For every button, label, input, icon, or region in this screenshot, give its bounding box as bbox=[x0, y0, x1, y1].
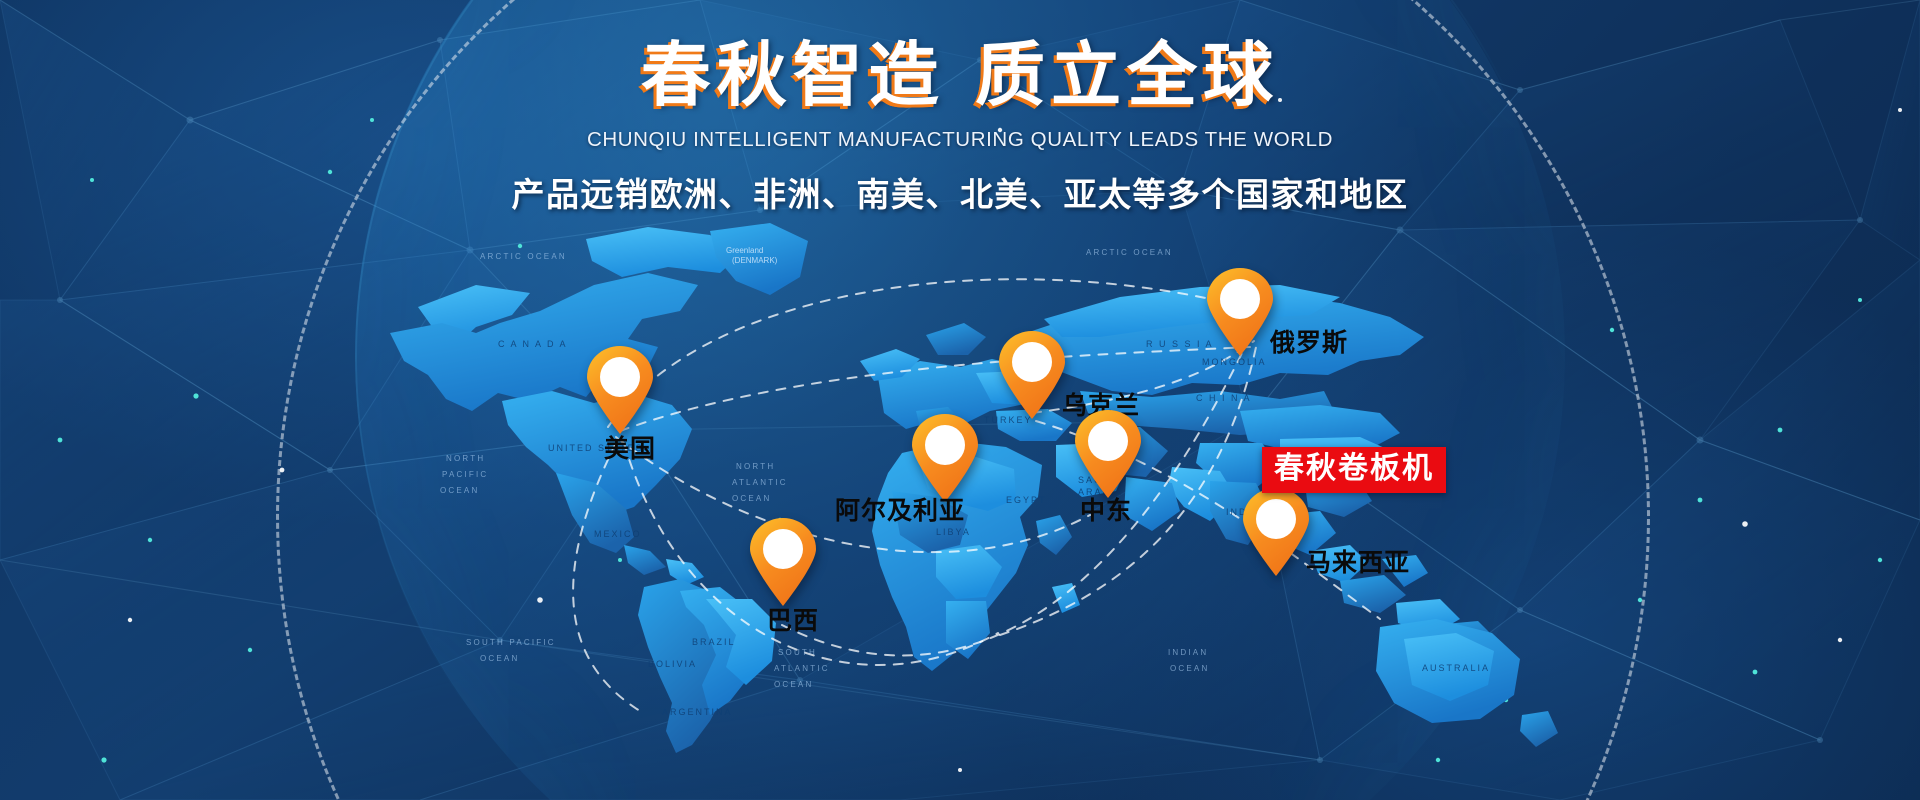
page-subtitle: 产品远销欧洲、非洲、南美、北美、亚太等多个国家和地区 bbox=[0, 168, 1920, 216]
svg-text:EGYPT: EGYPT bbox=[1006, 495, 1047, 505]
svg-text:PACIFIC: PACIFIC bbox=[442, 470, 488, 479]
svg-text:ARCTIC OCEAN: ARCTIC OCEAN bbox=[1086, 248, 1173, 257]
svg-text:OCEAN: OCEAN bbox=[1170, 664, 1209, 673]
page-title-english: CHUNQIU INTELLIGENT MANUFACTURING QUALIT… bbox=[0, 128, 1920, 152]
banner-stage: ARCTIC OCEAN ARCTIC OCEAN NORTH PACIFIC … bbox=[0, 0, 1920, 800]
svg-text:AUSTRALIA: AUSTRALIA bbox=[1422, 663, 1490, 673]
svg-text:OCEAN: OCEAN bbox=[480, 654, 519, 663]
svg-text:ARCTIC OCEAN: ARCTIC OCEAN bbox=[480, 252, 567, 261]
product-badge-label: 春秋卷板机 bbox=[1274, 453, 1434, 485]
svg-text:SOUTH PACIFIC: SOUTH PACIFIC bbox=[466, 638, 556, 647]
map-marker-label: 美国 bbox=[604, 436, 656, 461]
location-pin-icon bbox=[1207, 268, 1273, 356]
svg-text:R U S S I A: R U S S I A bbox=[1146, 339, 1214, 349]
svg-text:ATLANTIC: ATLANTIC bbox=[774, 664, 830, 673]
landmass-oceania bbox=[1376, 619, 1558, 747]
svg-text:LIBYA: LIBYA bbox=[936, 527, 971, 537]
location-pin-icon bbox=[750, 518, 816, 606]
location-pin-icon bbox=[587, 346, 653, 434]
svg-text:ATLANTIC: ATLANTIC bbox=[732, 478, 788, 487]
svg-text:C H I N A: C H I N A bbox=[1196, 393, 1252, 403]
map-marker-label: 巴西 bbox=[767, 608, 819, 633]
svg-text:NORTH: NORTH bbox=[446, 454, 485, 463]
svg-text:OCEAN: OCEAN bbox=[774, 680, 813, 689]
svg-text:MONGOLIA: MONGOLIA bbox=[1202, 357, 1267, 367]
svg-text:NORTH: NORTH bbox=[736, 462, 775, 471]
product-badge[interactable]: 春秋卷板机 bbox=[1262, 447, 1446, 493]
location-pin-icon bbox=[1075, 410, 1141, 498]
svg-text:ARGENTINA: ARGENTINA bbox=[662, 707, 733, 717]
svg-text:Greenland: Greenland bbox=[726, 246, 763, 255]
svg-text:OCEAN: OCEAN bbox=[440, 486, 479, 495]
svg-text:SOUTH: SOUTH bbox=[778, 648, 817, 657]
map-marker-label: 阿尔及利亚 bbox=[835, 498, 965, 523]
map-marker-label: 马来西亚 bbox=[1306, 550, 1410, 575]
svg-text:BOLIVIA: BOLIVIA bbox=[648, 659, 697, 669]
location-pin-icon bbox=[1243, 488, 1309, 576]
page-title: 春秋智造 质立全球 bbox=[641, 38, 1279, 114]
svg-text:C A N A D A: C A N A D A bbox=[498, 339, 568, 349]
location-pin-icon bbox=[912, 414, 978, 502]
location-pin-icon bbox=[999, 331, 1065, 419]
headline-block: 春秋智造 质立全球 CHUNQIU INTELLIGENT MANUFACTUR… bbox=[0, 38, 1920, 216]
svg-text:MEXICO: MEXICO bbox=[594, 529, 642, 539]
svg-text:(DENMARK): (DENMARK) bbox=[732, 256, 778, 265]
map-marker-label: 俄罗斯 bbox=[1270, 330, 1348, 355]
map-marker-label: 中东 bbox=[1080, 498, 1132, 523]
svg-text:INDIAN: INDIAN bbox=[1168, 648, 1208, 657]
svg-text:BRAZIL: BRAZIL bbox=[692, 637, 736, 647]
svg-text:OCEAN: OCEAN bbox=[732, 494, 771, 503]
